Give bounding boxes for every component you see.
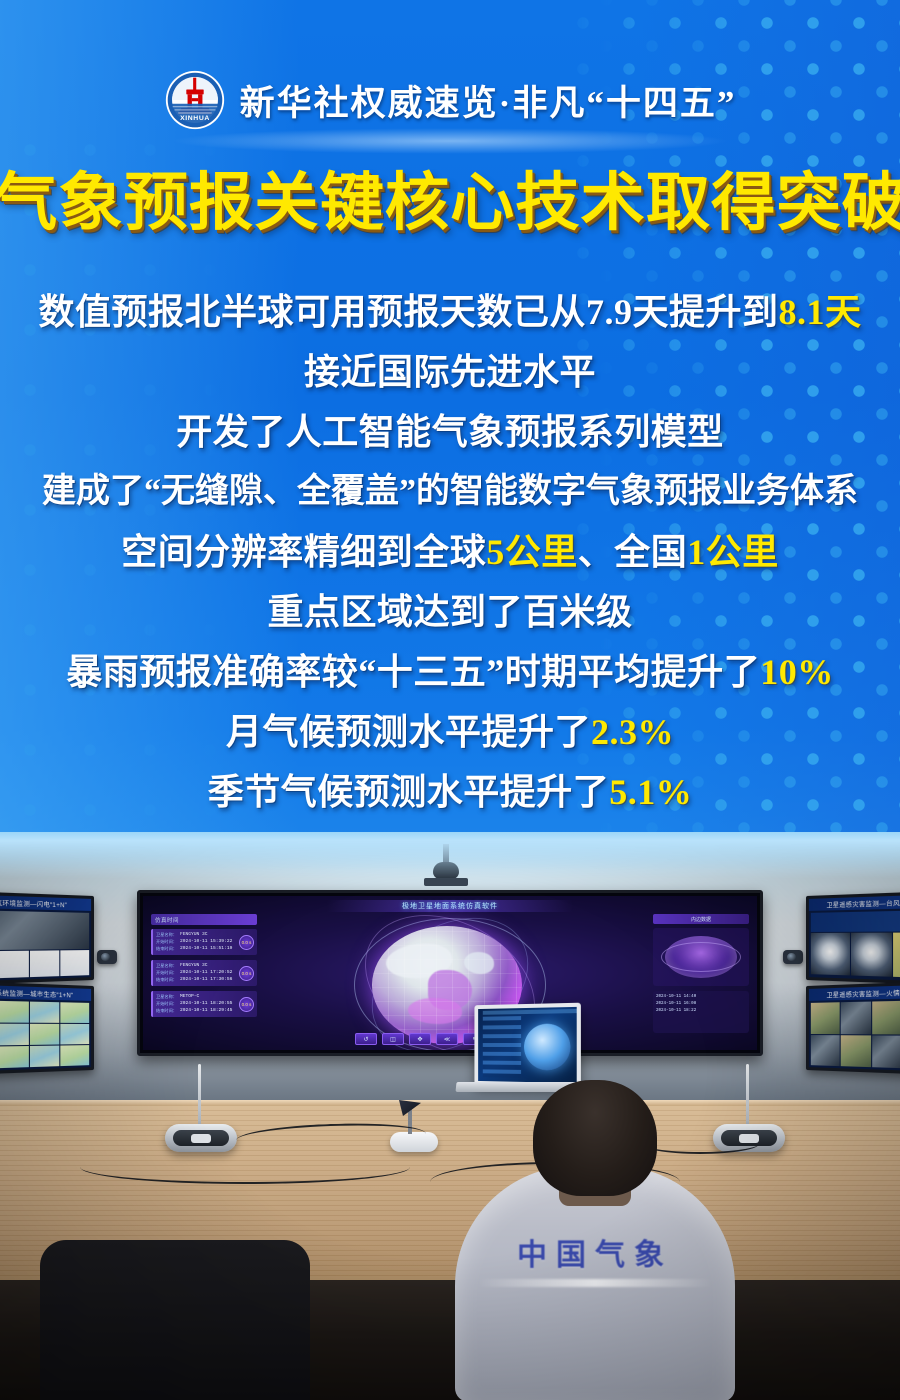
map-tile: [0, 1024, 28, 1046]
wall-camera-left-icon: [97, 950, 117, 964]
ceiling-camera-icon: [433, 862, 459, 879]
monitor-right-bottom[interactable]: 卫星遥感灾害监测—火情“1+N”: [806, 981, 900, 1075]
typhoon-image-tile: [811, 932, 850, 975]
desk-front-edge: [0, 1100, 900, 1106]
chart-tile: [61, 950, 90, 976]
center-button[interactable]: ✥: [409, 1033, 431, 1045]
log-line: 2024-10-11 14:40: [656, 994, 746, 1001]
jacket-text: 中国气象: [455, 1230, 735, 1274]
fire-image-tile: [840, 1002, 870, 1034]
microphone-stem-left: [198, 1064, 201, 1126]
right-panel-header: 内边数据: [653, 914, 749, 924]
xinhua-logo-icon: XINHUA: [164, 69, 226, 131]
body-lines: 数值预报北半球可用预报天数已从7.9天提升到8.1天 接近国际先进水平 开发了人…: [0, 282, 900, 822]
body-line: 开发了人工智能气象预报系列模型: [0, 402, 900, 462]
fire-image-tile: [872, 1035, 900, 1068]
microphone-stem-right: [746, 1064, 749, 1126]
main-video-wall[interactable]: 极地卫星地面系统仿真软件 仿真时间: [137, 890, 763, 1056]
operator-person: 中国气象: [455, 1080, 735, 1400]
monitor-content: [809, 908, 900, 982]
body-line: 重点区域达到了百米级: [0, 582, 900, 642]
map-tile: [0, 1001, 28, 1023]
wall-camera-right-icon: [783, 950, 803, 964]
right-data-panel: 内边数据 2024-10-11 14:40 2024-10-11 16:08 2…: [653, 914, 749, 1028]
brand-headline: 新华社权威速览·非凡“十四五”: [240, 75, 737, 126]
laptop-display: [478, 1007, 577, 1083]
fire-image-tile: [811, 1002, 840, 1033]
fire-image-tile: [811, 1035, 840, 1067]
monitor-content: [0, 998, 91, 1072]
microphone-pod-left[interactable]: [165, 1124, 237, 1152]
video-wall-screen: 极地卫星地面系统仿真软件 仿真时间: [143, 896, 757, 1050]
body-line: 空间分辨率精细到全球5公里、全国1公里: [0, 522, 900, 582]
monitor-left-bottom[interactable]: 生态系统监测—城市生态“1+N”: [0, 981, 94, 1075]
screen-title: 极地卫星地面系统仿真软件: [402, 901, 498, 911]
desk-cable: [80, 1150, 410, 1184]
layout-button[interactable]: ◫: [382, 1033, 404, 1045]
log-widget: 2024-10-11 14:40 2024-10-11 16:08 2024-1…: [653, 991, 749, 1033]
monitor-left-top[interactable]: 大气环境监测—闪电“1+N”: [0, 891, 94, 985]
typhoon-image-tile: [851, 932, 893, 976]
body-line: 接近国际先进水平: [0, 342, 900, 402]
screen-title-bar: 极地卫星地面系统仿真软件: [327, 900, 573, 912]
operator-head: [533, 1080, 657, 1196]
dome-ring: [661, 942, 741, 972]
monitor-content: [0, 908, 91, 982]
record-badge: 0.0 s: [239, 966, 254, 981]
ceiling-camera-base: [424, 878, 468, 886]
operations-center-photo: 极地卫星地面系统仿真软件 仿真时间: [0, 832, 900, 1400]
map-tile: [61, 1024, 90, 1045]
map-tile: [29, 1046, 59, 1068]
chart-tile: [0, 951, 28, 978]
typhoon-map-tile: [893, 932, 900, 978]
page-title: 气象预报关键核心技术取得突破: [0, 163, 900, 243]
body-line: 暴雨预报准确率较“十三五”时期平均提升了10%: [0, 642, 900, 702]
body-line: 数值预报北半球可用预报天数已从7.9天提升到8.1天: [0, 282, 900, 342]
log-line: 2024-10-11 16:08: [656, 1001, 746, 1008]
log-line: 2024-10-11 18:22: [656, 1008, 746, 1015]
body-line: 建成了“无缝隙、全覆盖”的智能数字气象预报业务体系: [0, 462, 900, 522]
poster-root: XINHUA 新华社权威速览·非凡“十四五” 气象预报关键核心技术取得突破 数值…: [0, 0, 900, 1400]
record-badge: 0.0 s: [239, 935, 254, 950]
text-banner-tile: [811, 910, 900, 932]
body-line: 月气候预测水平提升了2.3%: [0, 702, 900, 762]
map-tile: [61, 1002, 90, 1023]
satellite-record-row[interactable]: 卫星名称：FENGYUN 3C 开始时间：2024-10-11 17:20:52…: [151, 960, 257, 986]
laptop-globe-graphic: [524, 1023, 570, 1070]
monitor-right-top[interactable]: 卫星遥感灾害监测—台风“1+N”: [806, 891, 900, 985]
rewind-button[interactable]: ≪: [436, 1033, 458, 1045]
panel-header: 仿真时间: [151, 914, 257, 925]
map-tile: [61, 1045, 90, 1066]
record-badge: 0.0 s: [239, 997, 254, 1012]
office-chair: [40, 1240, 310, 1400]
satellite-image-tile: [0, 910, 89, 950]
laptop-topbar: [483, 1009, 578, 1015]
satellite-record-row[interactable]: 卫星名称：FENGYUN 3C 开始时间：2024-10-11 15:39:22…: [151, 929, 257, 955]
laptop-side-panel: [483, 1016, 521, 1078]
map-tile: [0, 1046, 28, 1068]
fire-image-tile: [872, 1001, 900, 1034]
reset-button[interactable]: ↺: [355, 1033, 377, 1045]
map-tile: [29, 1002, 59, 1023]
satellite-record-row[interactable]: 卫星名称：METOP-C 开始时间：2024-10-11 18:20:55 结束…: [151, 991, 257, 1017]
map-tile: [29, 1024, 59, 1045]
fire-image-tile: [840, 1035, 870, 1067]
monitor-content: [809, 998, 900, 1072]
svg-text:XINHUA: XINHUA: [180, 115, 210, 122]
laptop-screen[interactable]: [474, 1003, 580, 1088]
body-line: 季节气候预测水平提升了5.1%: [0, 762, 900, 822]
radar-dome-widget: [653, 928, 749, 986]
chart-tile: [29, 950, 59, 977]
header-bar: XINHUA 新华社权威速览·非凡“十四五”: [0, 58, 900, 142]
satellite-list-panel: 仿真时间 卫星名称：FENGYUN 3C 开始时间：2024-10-11 15:…: [151, 914, 257, 1028]
